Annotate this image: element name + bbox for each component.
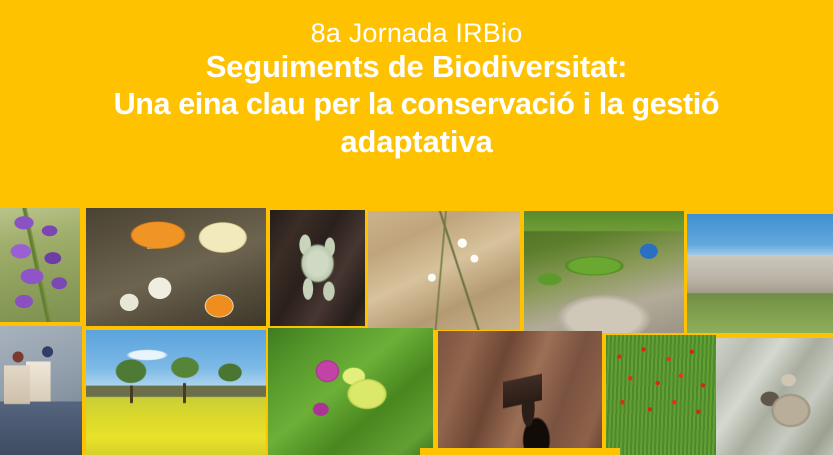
photo-alpine-flower bbox=[368, 211, 520, 330]
photo-alpine-flower-image bbox=[368, 211, 520, 330]
photo-bat bbox=[438, 331, 602, 455]
photo-mosaic bbox=[0, 208, 833, 455]
photo-butterfly-image bbox=[268, 328, 433, 455]
photo-birders-image bbox=[0, 326, 82, 455]
photo-dehesa-image bbox=[86, 330, 266, 455]
photo-birders bbox=[0, 326, 82, 455]
photo-poppies-image bbox=[606, 335, 716, 455]
photo-dehesa bbox=[86, 330, 266, 455]
photo-lichen-image bbox=[270, 210, 365, 326]
photo-mushroom-image bbox=[86, 208, 266, 326]
poster-title-line-3: adaptativa bbox=[340, 123, 492, 161]
event-edition-line: 8a Jornada IRBio bbox=[311, 19, 523, 47]
photo-vulture bbox=[716, 338, 833, 455]
photo-butterfly bbox=[268, 328, 433, 455]
photo-lichen bbox=[270, 210, 365, 326]
photo-poppies bbox=[606, 335, 716, 455]
poster-root: 8a Jornada IRBio Seguiments de Biodivers… bbox=[0, 0, 833, 455]
photo-bat-image bbox=[438, 331, 602, 455]
photo-lizard-image bbox=[524, 211, 684, 333]
photo-lizard bbox=[524, 211, 684, 333]
photo-orchid bbox=[0, 208, 80, 322]
photo-mushroom bbox=[86, 208, 266, 326]
poster-header: 8a Jornada IRBio Seguiments de Biodivers… bbox=[0, 0, 833, 208]
poster-title-line-2: Una eina clau per la conservació i la ge… bbox=[114, 85, 719, 123]
poster-title-line-1: Seguiments de Biodiversitat: bbox=[206, 49, 628, 85]
photo-vulture-image bbox=[716, 338, 833, 455]
photo-orchid-image bbox=[0, 208, 80, 322]
bottom-accent-bar bbox=[420, 448, 620, 455]
photo-mountain bbox=[687, 214, 833, 333]
photo-mountain-image bbox=[687, 214, 833, 333]
